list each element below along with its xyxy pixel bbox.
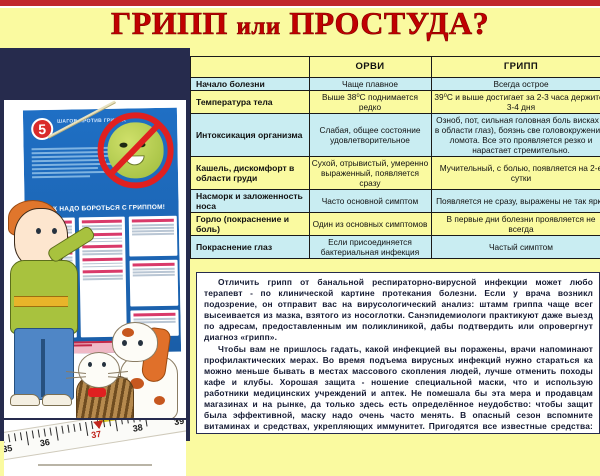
row-orvi-value: Слабая, общее состояние удовлетворительн… xyxy=(309,114,431,157)
row-orvi-value: Выше 38⁰С поднимается редко xyxy=(309,91,431,114)
boy-eye xyxy=(52,228,57,234)
flu-vs-cold-table: ОРВИ ГРИПП Начало болезни Чаще плавное В… xyxy=(191,57,600,259)
article-paragraph-1: Отличить грипп от банальной респираторно… xyxy=(204,277,593,344)
row-orvi-value: Часто основной симптом xyxy=(309,190,431,213)
boy-shoe xyxy=(42,394,72,406)
table-row: Покраснение глаз Если присоединяется бак… xyxy=(191,236,600,259)
cat-bow xyxy=(88,388,106,397)
thermometer-yellow-band xyxy=(99,420,186,423)
table-row: Температура тела Выше 38⁰С поднимается р… xyxy=(191,91,600,114)
row-gripp-value: Появляется не сразу, выражены не так ярк… xyxy=(431,190,600,213)
table-corner-cell xyxy=(191,57,309,78)
poster-card xyxy=(129,216,178,257)
article-textbox: Отличить грипп от банальной респираторно… xyxy=(196,272,600,434)
row-feature: Покраснение глаз xyxy=(191,236,309,259)
table-header-orvi: ОРВИ xyxy=(309,57,431,78)
row-feature: Кашель, дискомфорт в области груди xyxy=(191,157,309,190)
cat-eye xyxy=(102,362,106,367)
boy-shoe xyxy=(10,394,40,406)
dog-eye xyxy=(122,340,127,346)
boy-belt xyxy=(14,296,68,307)
title-word-prostuda: ПРОСТУДА? xyxy=(289,5,489,41)
row-gripp-value: Мучительный, с болью, появляется на 2-е … xyxy=(431,157,600,190)
thermometer-tick-35: 35 xyxy=(4,443,13,454)
row-gripp-value: Всегда острое xyxy=(431,78,600,91)
row-feature: Начало болезни xyxy=(191,78,309,91)
illustration-boy-poster: 5 ШАГОВ ПРОТИВ ГРИППА КАК НАДО БОРОТЬСЯ … xyxy=(4,100,186,418)
row-feature: Интоксикация организма xyxy=(191,114,309,157)
thermometer-tick-38: 38 xyxy=(132,422,143,433)
dog-head xyxy=(112,322,158,362)
dog-spot xyxy=(122,328,134,337)
row-gripp-value: Частый симптом xyxy=(431,236,600,259)
row-orvi-value: Сухой, отрывистый, умеренно выраженный, … xyxy=(309,157,431,190)
comparison-table-wrap: ОРВИ ГРИПП Начало болезни Чаще плавное В… xyxy=(190,56,600,259)
title-conjunction: или xyxy=(236,13,280,40)
thermometer-tick-39: 39 xyxy=(173,420,184,427)
row-gripp-value: В первые дни болезни проявляется не всег… xyxy=(431,213,600,236)
thermometer-tick-36: 36 xyxy=(39,437,50,448)
row-orvi-value: Если присоединяется бактериальная инфекц… xyxy=(309,236,431,259)
poster-card xyxy=(130,260,179,307)
row-orvi-value: Один из основных симптомов xyxy=(309,213,431,236)
thermometer-tick-37: 37 xyxy=(90,429,101,440)
row-feature: Температура тела xyxy=(191,91,309,114)
boy-legs xyxy=(14,328,74,400)
dog-spot xyxy=(154,396,165,405)
row-orvi-value: Чаще плавное xyxy=(309,78,431,91)
title-word-gripp: ГРИПП xyxy=(111,5,228,41)
cat-head xyxy=(78,352,120,388)
article-paragraph-2: Чтобы вам не пришлось гадать, какой инфе… xyxy=(204,344,593,434)
thermometer-scale: 35 36 37 38 39 xyxy=(4,420,186,461)
table-row: Насморк и заложенность носа Часто основн… xyxy=(191,190,600,213)
row-feature: Насморк и заложенность носа xyxy=(191,190,309,213)
thermometer-image: 35 36 37 38 39 xyxy=(4,420,186,476)
thermometer-body: 35 36 37 38 39 xyxy=(4,420,186,462)
table-header-row: ОРВИ ГРИПП xyxy=(191,57,600,78)
row-feature: Горло (покраснение и боль) xyxy=(191,213,309,236)
table-header-gripp: ГРИПП xyxy=(431,57,600,78)
page-title: ГРИПП или ПРОСТУДА? xyxy=(0,6,600,44)
left-navy-panel: 5 ШАГОВ ПРОТИВ ГРИППА КАК НАДО БОРОТЬСЯ … xyxy=(0,48,190,441)
boy-eye xyxy=(36,228,41,234)
cat-eye xyxy=(88,362,92,367)
row-gripp-value: 39⁰С и выше достигает за 2-3 часа держит… xyxy=(431,91,600,114)
dog-eye xyxy=(138,340,143,346)
table-row: Горло (покраснение и боль) Один из основ… xyxy=(191,213,600,236)
table-row: Начало болезни Чаще плавное Всегда остро… xyxy=(191,78,600,91)
table-row: Интоксикация организма Слабая, общее сос… xyxy=(191,114,600,157)
thermometer-indicator-arrow xyxy=(93,420,104,429)
thermometer-caption xyxy=(4,462,186,472)
row-gripp-value: Озноб, пот, сильная головная боль висках… xyxy=(431,114,600,157)
table-row: Кашель, дискомфорт в области груди Сухой… xyxy=(191,157,600,190)
